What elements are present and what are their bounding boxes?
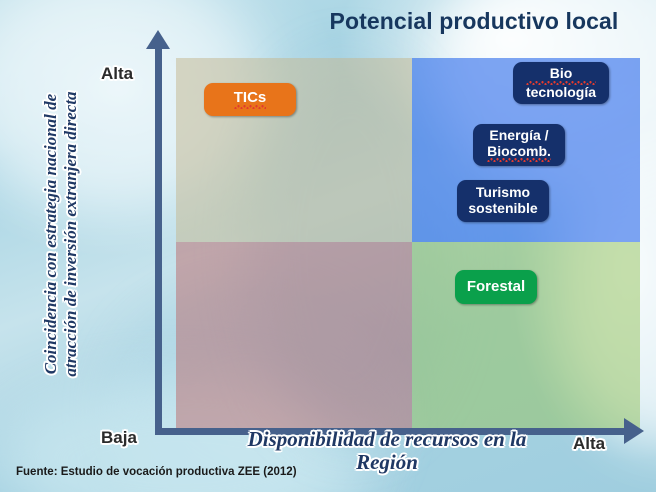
card-tics-label: TICs [234,90,267,110]
source-footnote: Fuente: Estudio de vocación productiva Z… [16,466,297,478]
card-turismo-line1: Turismo [468,185,537,201]
card-energia-line1: Energía / [487,128,551,144]
card-energia-line2: Biocomb. [487,144,551,163]
card-bio-tecnologia-text: Bio tecnología [526,66,596,101]
card-forestal-label: Forestal [467,279,525,296]
slide-canvas: Potencial productivo local Alta Baja Alt… [0,0,656,492]
x-axis-high-label: Alta [573,434,605,454]
card-turismo-sostenible-text: Turismo sostenible [468,185,537,217]
card-forestal[interactable]: Forestal [455,270,537,304]
card-bio-tecnologia[interactable]: Bio tecnología [513,62,609,104]
y-axis-low-label: Baja [101,428,137,448]
quadrant-bottom-left [176,242,412,430]
card-bio-line2: tecnología [526,85,596,101]
card-tics[interactable]: TICs [204,83,296,116]
x-axis-arrow-icon [624,418,644,444]
y-axis-high-label: Alta [101,64,133,84]
x-axis-title-line1: Disponibilidad de recursos [248,427,479,451]
card-energia-biocomb[interactable]: Energía / Biocomb. [473,124,565,166]
page-title: Potencial productivo local [300,8,648,35]
y-axis-title: Coincidencia con estrategia nacional de … [41,69,81,399]
card-turismo-sostenible[interactable]: Turismo sostenible [457,180,549,222]
card-energia-biocomb-text: Energía / Biocomb. [487,128,551,163]
card-turismo-line2: sostenible [468,201,537,217]
y-axis-arrow-icon [146,30,170,49]
y-axis-line [155,44,162,432]
card-bio-line1: Bio [526,66,596,85]
